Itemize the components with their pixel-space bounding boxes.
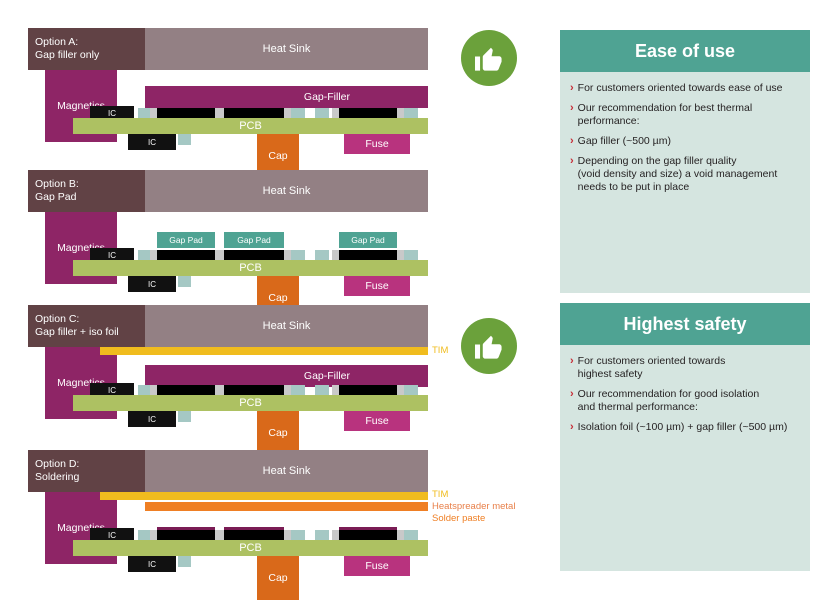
option-a-fuse: Fuse [344,134,410,154]
thumbs-up-icon-ease-of-use [461,30,517,86]
panel-ease-of-use-title: Ease of use [560,30,810,72]
panel-ease-of-use: Ease of use › For customers oriented tow… [560,30,810,293]
option-d-tim-label: TIM [432,489,448,501]
chevron-right-icon: › [570,82,574,95]
option-block-c: Option C: Gap filler + iso foil Heat Sin… [28,305,428,445]
option-b-gap-pad-2: Gap Pad [224,232,284,248]
option-b-fuse: Fuse [344,276,410,296]
option-a-ic-bottom: IC [128,134,176,150]
list-item: › Our recommendation for good isolation … [570,388,798,414]
panel-highest-safety-title: Highest safety [560,303,810,345]
option-d-solder-paste-label: Solder paste [432,513,485,525]
option-b-tag: Option B: Gap Pad [28,170,145,212]
list-item: › Isolation foil (~100 µm) + gap filler … [570,421,798,434]
option-c-fuse: Fuse [344,411,410,431]
option-a-tag: Option A: Gap filler only [28,28,145,70]
option-c-pcb: PCB [73,395,428,411]
panel-ease-of-use-body: › For customers oriented towards ease of… [560,72,810,211]
option-b-gap-pad-1: Gap Pad [157,232,215,248]
option-c-ic-bottom: IC [128,411,176,427]
bullet-text: For customers oriented towards ease of u… [578,82,783,95]
diagram-canvas: Option A: Gap filler only Heat Sink Magn… [0,0,821,590]
chevron-right-icon: › [570,102,574,128]
option-a-gap-filler: Gap-Filler [145,86,428,108]
option-block-a: Option A: Gap filler only Heat Sink Magn… [28,28,428,168]
list-item: › Gap filler (~500 µm) [570,135,798,148]
option-c-chip-bottom [178,411,191,422]
option-block-b: Option B: Gap Pad Heat Sink Magnetics Ga… [28,170,428,310]
option-d-fuse: Fuse [344,556,410,576]
list-item: › Our recommendation for best thermal pe… [570,102,798,128]
panel-highest-safety: Highest safety › For customers oriented … [560,303,810,571]
bullet-text: Depending on the gap filler quality (voi… [578,155,778,194]
option-d-heatspreader-layer [145,502,428,511]
thumbs-up-icon-highest-safety [461,318,517,374]
option-c-tim-label: TIM [432,345,448,357]
option-d-pcb: PCB [73,540,428,556]
option-b-chip-bottom [178,276,191,287]
panel-highest-safety-body: › For customers oriented towards highest… [560,345,810,451]
option-b-ic-bottom: IC [128,276,176,292]
option-c-heat-sink: Heat Sink [145,305,428,347]
option-c-tag: Option C: Gap filler + iso foil [28,305,145,347]
chevron-right-icon: › [570,388,574,414]
option-d-tag: Option D: Soldering [28,450,145,492]
option-d-tim-layer [100,492,428,500]
option-b-pcb: PCB [73,260,428,276]
option-d-cap: Cap [257,556,299,600]
bullet-text: Our recommendation for good isolation an… [578,388,760,414]
option-c-cap: Cap [257,411,299,455]
chevron-right-icon: › [570,355,574,381]
bullet-text: Gap filler (~500 µm) [578,135,671,148]
option-d-chip-bottom [178,556,191,567]
list-item: › For customers oriented towards highest… [570,355,798,381]
bullet-text: Isolation foil (~100 µm) + gap filler (~… [578,421,788,434]
option-a-pcb: PCB [73,118,428,134]
chevron-right-icon: › [570,135,574,148]
chevron-right-icon: › [570,421,574,434]
option-c-gap-filler: Gap-Filler [145,365,428,387]
option-d-heat-sink: Heat Sink [145,450,428,492]
option-d-heatspreader-label: Heatspreader metal [432,501,515,513]
bullet-text: For customers oriented towards highest s… [578,355,726,381]
option-d-ic-bottom: IC [128,556,176,572]
bullet-text: Our recommendation for best thermal perf… [578,102,753,128]
option-a-chip-bottom [178,134,191,145]
option-a-heat-sink: Heat Sink [145,28,428,70]
option-b-heat-sink: Heat Sink [145,170,428,212]
chevron-right-icon: › [570,155,574,194]
list-item: › For customers oriented towards ease of… [570,82,798,95]
list-item: › Depending on the gap filler quality (v… [570,155,798,194]
option-c-tim-layer [100,347,428,355]
option-b-gap-pad-3: Gap Pad [339,232,397,248]
option-block-d: Option D: Soldering Heat Sink Magnetics … [28,450,428,590]
